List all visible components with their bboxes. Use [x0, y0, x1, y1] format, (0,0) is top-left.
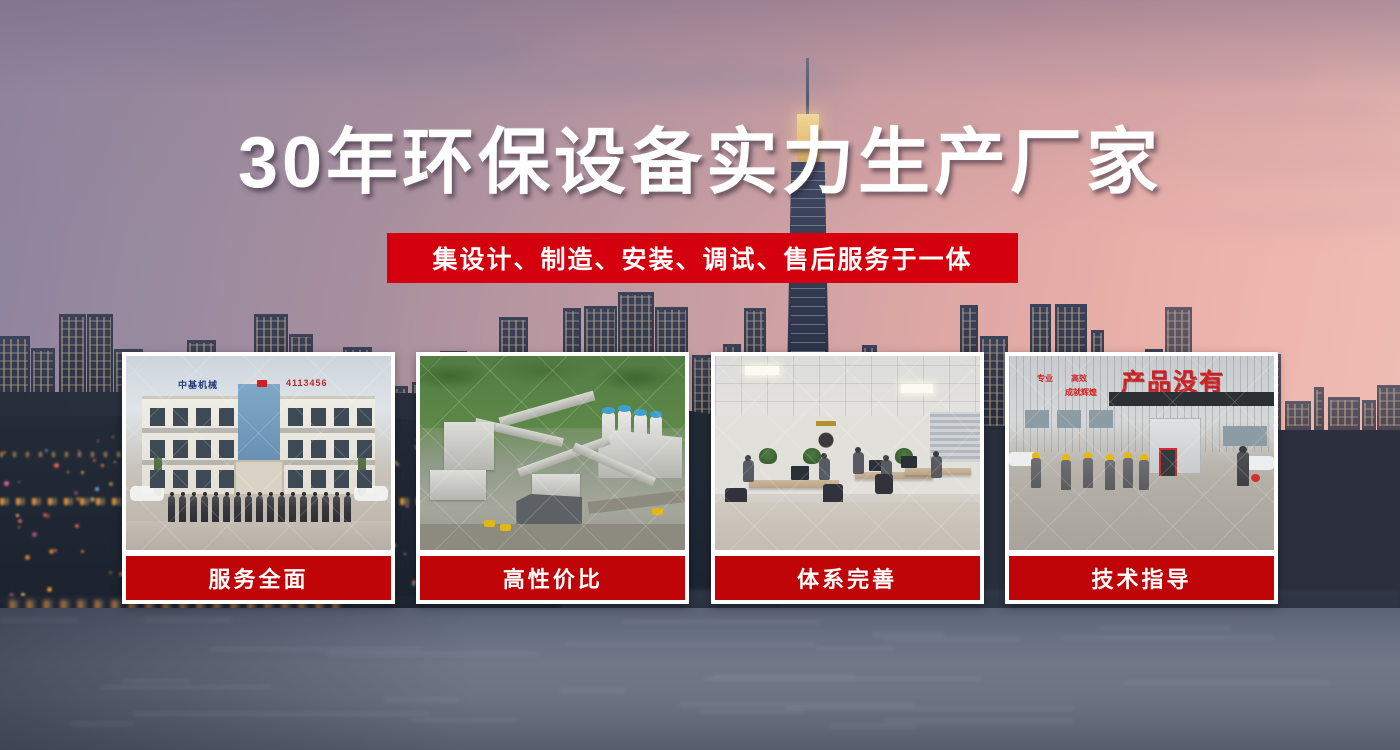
water-ripple [704, 678, 982, 680]
worker-shape [1123, 458, 1133, 488]
staff-person [223, 496, 230, 522]
tree-light-speck [76, 497, 80, 501]
tree-light-speck [75, 524, 79, 528]
tree-light-speck [90, 497, 95, 502]
card-label: 体系完善 [715, 556, 980, 600]
skyline-building [1362, 400, 1376, 430]
tree-light-speck [45, 449, 48, 452]
factory-slogan-text: 高效 [1071, 374, 1087, 384]
water-ripple [411, 719, 517, 721]
tree-light-speck [18, 481, 20, 483]
staff-person [344, 496, 351, 522]
monitor-shape [901, 456, 917, 468]
building-window [219, 470, 234, 488]
tree-light-speck [93, 459, 96, 462]
factory-yard-workers-photo: 产品没有 专业 高效 成就辉煌 [1009, 356, 1274, 550]
cloud-shape [40, 8, 360, 38]
building-entrance [234, 460, 284, 496]
aerial-plant-photo [420, 356, 685, 550]
office-interior-photo [715, 356, 980, 550]
water-ripple [560, 689, 626, 691]
skyline-building [1314, 387, 1324, 430]
staff-person [333, 496, 340, 522]
water-ripple [101, 686, 272, 688]
ceiling-light [901, 384, 933, 393]
building-window [196, 408, 211, 426]
parked-car [1245, 456, 1274, 470]
card-label-text: 技术指导 [1091, 562, 1191, 594]
feature-card[interactable]: 中基机械 4113456 服务全面 [122, 352, 395, 604]
factory-side-door [1159, 448, 1177, 478]
building-window [219, 440, 234, 458]
tree-light-speck [101, 464, 104, 467]
building-window [334, 408, 349, 426]
water-ripple [210, 648, 423, 650]
subtitle-text: 集设计、制造、安装、调试、售后服务于一体 [432, 240, 972, 276]
building-window [173, 470, 188, 488]
building-window [357, 470, 372, 488]
flag-icon [257, 380, 267, 387]
worker-shape [1139, 460, 1149, 490]
water-ripple [622, 621, 821, 623]
skyline-building [1328, 397, 1360, 430]
parked-car [130, 486, 164, 501]
staff-person [201, 496, 208, 522]
staff-person [267, 496, 274, 522]
building-window [311, 440, 326, 458]
tree-light-speck [109, 571, 112, 574]
tree-light-speck [43, 513, 47, 517]
tree-light-speck [3, 451, 6, 454]
monitor-shape [791, 466, 809, 480]
building-window [219, 408, 234, 426]
card-label: 服务全面 [126, 556, 391, 600]
building-phone-text: 4113456 [286, 378, 328, 388]
building-window [357, 408, 372, 426]
water-ripple [872, 634, 944, 636]
staff-person [300, 496, 307, 522]
plant-shape [759, 448, 777, 464]
water-ripple [327, 653, 540, 655]
card-label: 高性价比 [420, 556, 685, 600]
water-ripple [883, 638, 1021, 640]
water-ripple [1099, 627, 1231, 629]
tree-light-speck [114, 461, 116, 463]
feature-card[interactable]: 体系完善 [711, 352, 984, 604]
facade-dark-strip [1109, 392, 1274, 406]
building-window [150, 470, 165, 488]
tree-light-speck [47, 587, 52, 592]
worker-shape [1031, 458, 1041, 488]
river-water [0, 608, 1400, 750]
staff-person [212, 496, 219, 522]
plaza-ground [126, 521, 391, 550]
excavator-shape [500, 524, 511, 531]
water-ripple [145, 619, 232, 621]
red-helmet-icon [1251, 474, 1260, 482]
plant-building [430, 470, 486, 500]
supervisor-shape [1237, 452, 1249, 486]
wall-decal-icon [811, 424, 841, 450]
feature-card[interactable]: 高性价比 [416, 352, 689, 604]
building-window [334, 440, 349, 458]
factory-window [1089, 410, 1113, 428]
water-ripple [1123, 682, 1329, 684]
plant-building [444, 422, 494, 470]
tree-light-speck [54, 549, 57, 552]
water-ripple [0, 619, 77, 621]
chair-shape [875, 474, 893, 494]
building-window [288, 470, 303, 488]
excavator-shape [652, 508, 663, 515]
building-window [288, 408, 303, 426]
factory-window [1057, 410, 1081, 428]
building-window [311, 408, 326, 426]
tree-light-speck [54, 463, 59, 468]
building-window [173, 408, 188, 426]
person-shape [853, 452, 864, 474]
tree-light-speck [4, 481, 9, 486]
staff-person [179, 496, 186, 522]
card-label: 技术指导 [1009, 556, 1274, 600]
staff-person [256, 496, 263, 522]
factory-slogan-text: 专业 [1037, 374, 1053, 384]
water-ripple [133, 713, 430, 715]
person-shape [931, 456, 942, 478]
tree-light-speck [109, 482, 113, 486]
building-window [150, 408, 165, 426]
plant-shed-dark [516, 494, 582, 524]
building-window [288, 440, 303, 458]
building-window [334, 470, 349, 488]
tree-light-speck [25, 555, 30, 560]
cloud-shape [330, 62, 850, 98]
page-title: 30年环保设备实力生产厂家 [0, 127, 1400, 199]
tree-light-speck [18, 526, 20, 528]
tree-light-speck [49, 549, 54, 554]
office-floor [715, 502, 980, 550]
tree-light-speck [81, 550, 84, 553]
water-ripple [70, 723, 133, 725]
building-window [150, 440, 165, 458]
factory-window [1025, 410, 1049, 428]
card-label-text: 服务全面 [208, 562, 308, 594]
tree-light-speck [78, 450, 80, 452]
water-ripple [829, 725, 917, 727]
tree-light-speck [97, 440, 99, 442]
plant-building [532, 474, 580, 498]
cloud-shape [900, 48, 1320, 88]
factory-slogan-text: 成就辉煌 [1065, 388, 1097, 398]
building-window [173, 440, 188, 458]
staff-person [322, 496, 329, 522]
cloud-shape [1150, 210, 1400, 232]
building-sign-text: 中基机械 [178, 378, 218, 391]
tree-light-speck [16, 514, 19, 517]
feature-card-row: 中基机械 4113456 服务全面 [122, 352, 1278, 604]
water-ripple [700, 711, 804, 713]
tree-light-speck [81, 471, 84, 474]
water-ripple [1060, 637, 1275, 639]
staff-person [168, 496, 175, 522]
skyline-building [1285, 401, 1311, 430]
subtitle-banner: 集设计、制造、安装、调试、售后服务于一体 [387, 233, 1018, 283]
skyline-building [1377, 385, 1400, 430]
office-building-staff-photo: 中基机械 4113456 [126, 356, 391, 550]
building-window [311, 470, 326, 488]
tree-light-speck [18, 519, 22, 523]
staff-person [311, 496, 318, 522]
plant-shape [803, 448, 821, 464]
tree-light-speck [32, 532, 37, 537]
feature-card[interactable]: 产品没有 专业 高效 成就辉煌 技术指导 [1005, 352, 1278, 604]
card-label-text: 高性价比 [503, 562, 603, 594]
cloud-shape [1030, 96, 1390, 126]
water-ripple [123, 680, 191, 682]
water-ripple [816, 647, 894, 649]
staff-person [190, 496, 197, 522]
tower-spire [806, 58, 809, 118]
water-ripple [884, 720, 1073, 722]
worker-shape [1083, 458, 1093, 488]
parked-car [354, 486, 388, 501]
water-ripple [566, 643, 816, 645]
water-ripple [784, 707, 1074, 709]
person-shape [819, 458, 830, 480]
tree-light-speck [74, 491, 78, 495]
building-window [357, 440, 372, 458]
worker-shape [1105, 460, 1115, 490]
factory-window [1223, 426, 1267, 446]
worker-shape [1061, 460, 1071, 490]
water-ripple [680, 704, 914, 706]
ceiling-light [745, 366, 779, 375]
tree-light-speck [67, 471, 69, 473]
access-road [588, 490, 685, 514]
building-window [196, 470, 211, 488]
tree-light-speck [112, 436, 114, 438]
staff-person [245, 496, 252, 522]
tree-light-speck [95, 487, 99, 491]
card-label-text: 体系完善 [797, 562, 897, 594]
building-window [196, 440, 211, 458]
staff-person [234, 496, 241, 522]
staff-person [278, 496, 285, 522]
excavator-shape [484, 520, 495, 527]
water-ripple [384, 699, 459, 701]
plant-yard [420, 524, 685, 550]
person-shape [743, 460, 754, 482]
staff-person [289, 496, 296, 522]
